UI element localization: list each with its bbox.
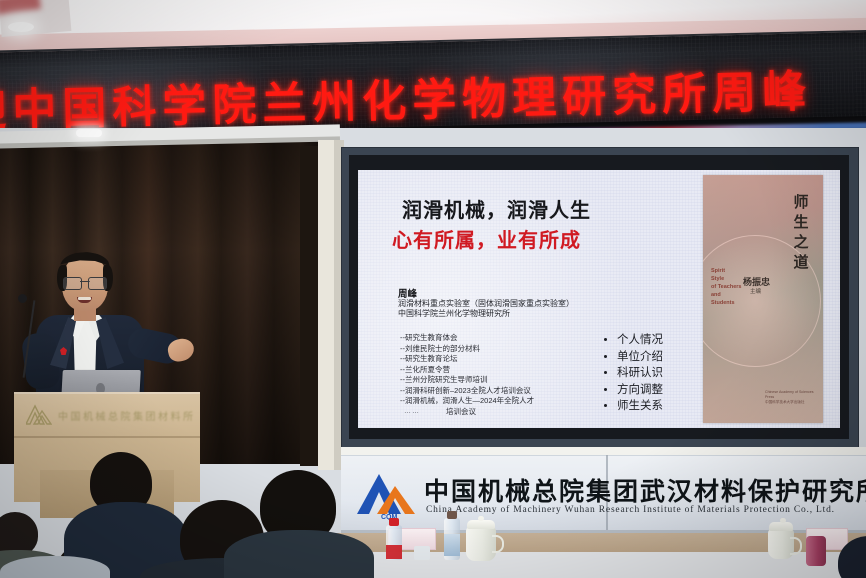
wall-sign-chinese: 中国机械总院集团武汉材料保护研究所有限公司 <box>424 472 866 508</box>
book-title: 师生之道 <box>791 193 811 273</box>
list-item: --研究生教育体会 <box>400 333 534 344</box>
microphone-icon <box>18 294 27 303</box>
list-item: 单位介绍 <box>617 349 663 366</box>
cup-lid <box>769 522 793 531</box>
slide-right-list: 个人情况 单位介绍 科研认识 方向调整 师生关系 <box>603 332 663 415</box>
list-item: --兰州分院研究生导师培训 <box>400 375 534 386</box>
list-item: --兰化所夏令营 <box>400 365 534 376</box>
book-cover-image: 师生之道 Spirit Style of Teachers and Studen… <box>703 175 823 423</box>
list-item: 个人情况 <box>617 332 663 349</box>
glasses-icon <box>63 277 107 288</box>
wall-sign-english: China Academy of Machinery Wuhan Researc… <box>426 505 835 515</box>
glasses-lens-left <box>63 277 82 290</box>
presentation-slide: 润滑机械，润滑人生 心有所属，业有所成 周峰 润滑材料重点实验室（固体润滑国家重… <box>358 170 840 428</box>
list-item: --润滑科研创新–2023全院人才培训会议 <box>400 386 534 397</box>
small-cup <box>414 546 430 560</box>
cup-knob <box>780 518 786 523</box>
lecture-hall-photo: 迎中国科学院兰州化学物理研究所周峰 润滑机械，润滑人生 心有所属，业有所成 周峰… <box>0 0 866 578</box>
slide-left-ellipsis: …… <box>404 408 420 415</box>
water-bottle <box>444 518 460 560</box>
slide-left-list: --研究生教育体会 --刘维民院士的部分材料 --研究生教育论坛 --兰化所夏令… <box>400 333 534 417</box>
podium-edge-line <box>14 436 200 438</box>
list-item: 科研认识 <box>617 365 663 382</box>
recessed-ceiling-light-icon <box>76 129 102 137</box>
speaker-teeth <box>78 297 91 300</box>
audience-member <box>760 540 866 578</box>
cup-knob <box>478 516 484 521</box>
book-editor-label: 主编 <box>750 287 761 295</box>
cup-lid <box>467 520 495 529</box>
bottle-label <box>444 534 460 556</box>
audience-head <box>838 536 866 578</box>
list-item: --润滑机械，润滑人生—2024年全院人才 <box>400 396 534 407</box>
list-item: 方向调整 <box>617 382 663 399</box>
bottle-label <box>386 545 402 559</box>
book-publisher: Chinese Academy of Sciences Press 中国科学技术… <box>765 390 823 405</box>
bottle-cap <box>447 511 457 519</box>
bottle-cap <box>389 518 399 526</box>
list-item: --刘维民院士的部分材料 <box>400 344 534 355</box>
audience-member <box>242 470 382 578</box>
book-english-text: Spirit Style of Teachers and Students <box>711 267 741 307</box>
podium-triangle-logo-icon <box>26 404 52 426</box>
slide-presenter-institute: 中国科学院兰州化学物理研究所 <box>398 308 510 319</box>
list-item: 培训会议 <box>400 407 534 418</box>
list-item: --研究生教育论坛 <box>400 354 534 365</box>
list-item: 师生关系 <box>617 398 663 415</box>
slide-title-line2: 心有所属，业有所成 <box>392 224 581 253</box>
glasses-lens-right <box>88 277 107 290</box>
audience-shoulders <box>224 530 374 578</box>
ceiling-light-icon <box>8 22 34 32</box>
slide-title-line1: 润滑机械，润滑人生 <box>402 194 591 223</box>
audience-member <box>0 556 90 578</box>
audience-shoulders <box>0 556 110 578</box>
tea-cup-with-lid <box>466 527 496 561</box>
water-bottle <box>386 525 402 560</box>
podium-text: 中国机械总院集团材料所 <box>58 408 196 423</box>
